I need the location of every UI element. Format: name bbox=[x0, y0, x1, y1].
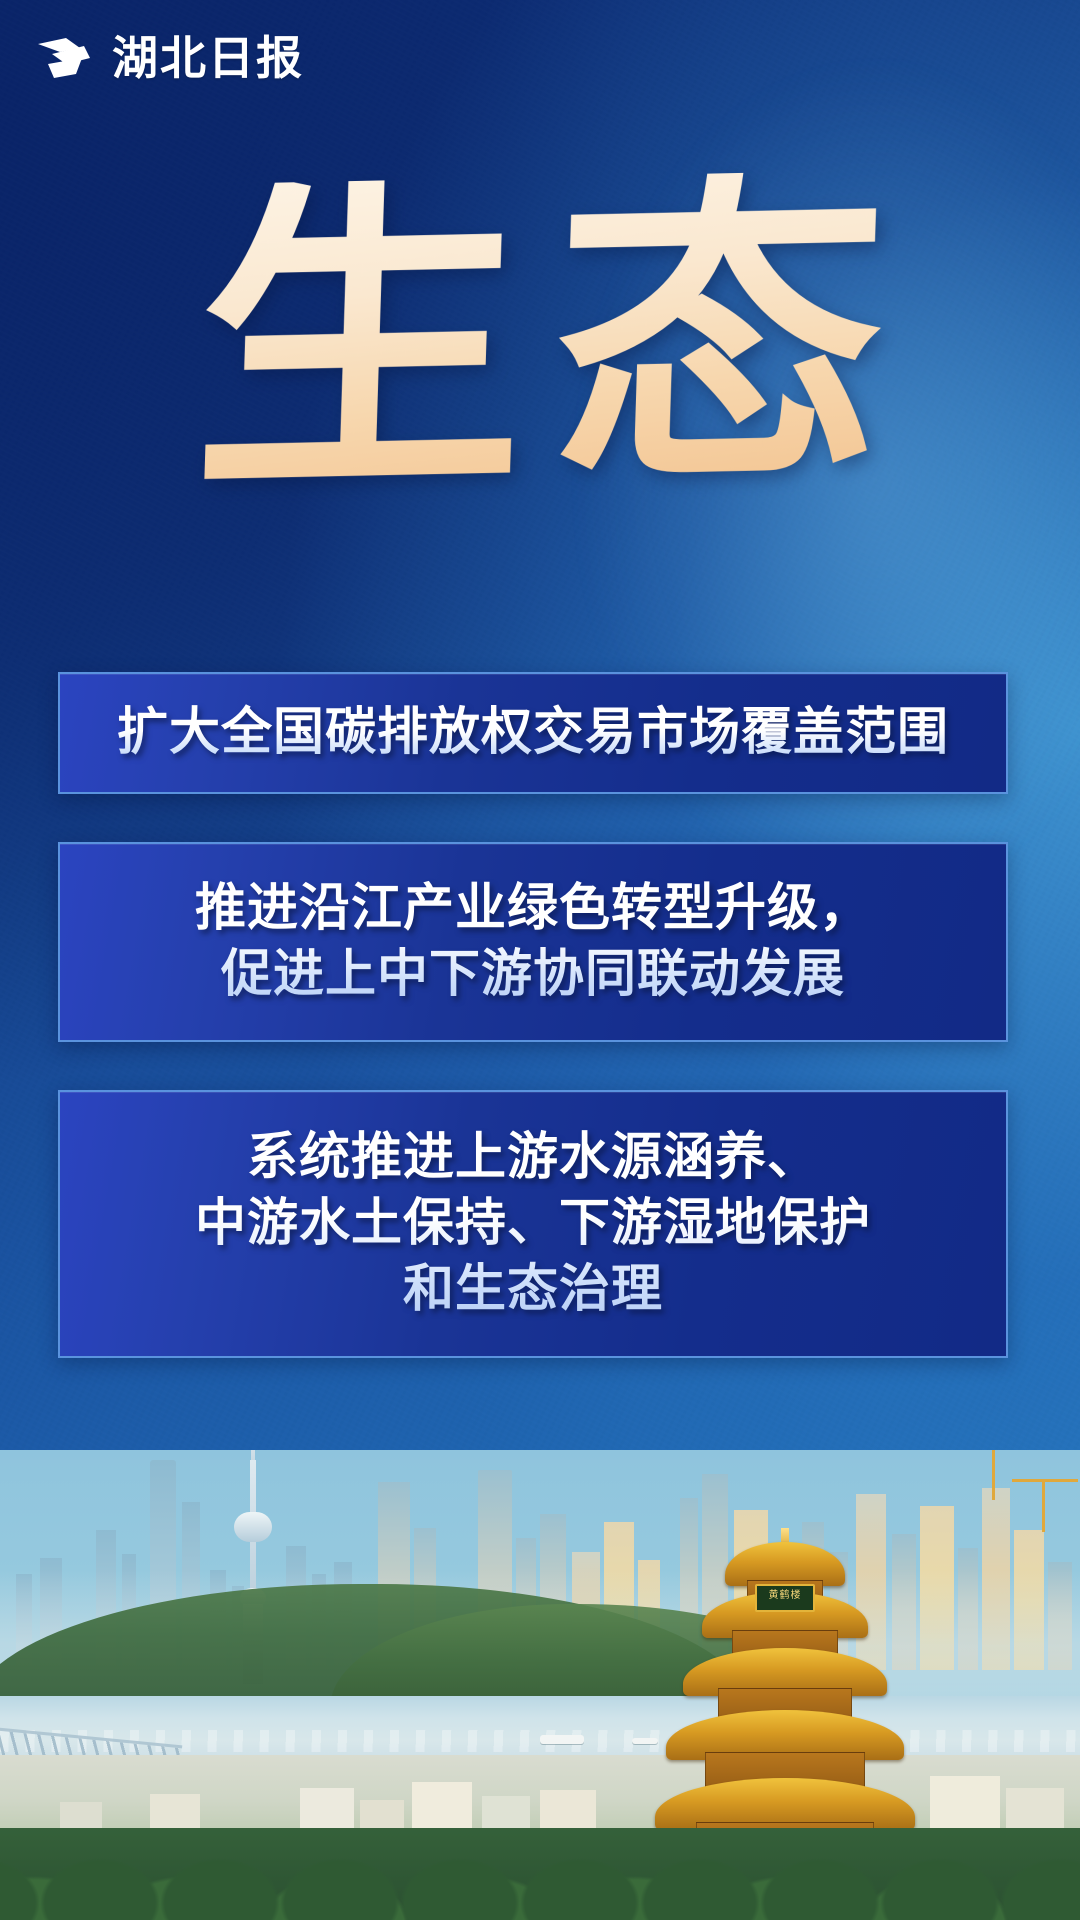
photo-river-boat bbox=[540, 1735, 584, 1744]
yellow-crane-tower: 黄鹤楼 bbox=[655, 1532, 915, 1862]
banner-green-transition-text: 推进沿江产业绿色转型升级， 促进上中下游协同联动发展 bbox=[195, 876, 871, 1009]
banner-carbon-market-text: 扩大全国碳排放权交易市场覆盖范围 bbox=[117, 700, 949, 766]
banner-water-ecology-text: 系统推进上游水源涵养、 中游水土保持、下游湿地保护 和生态治理 bbox=[195, 1125, 871, 1324]
page-title: 生态 bbox=[163, 169, 918, 501]
construction-crane-jib-icon bbox=[1012, 1479, 1078, 1482]
masthead-brand-text: 湖北日报 bbox=[112, 35, 304, 81]
banner-list: 扩大全国碳排放权交易市场覆盖范围 推进沿江产业绿色转型升级， 促进上中下游协同联… bbox=[58, 672, 1008, 1358]
hubei-daily-logomark-icon bbox=[36, 34, 98, 82]
headline-container: 生态 bbox=[0, 140, 1080, 530]
yellow-crane-tower-plaque-text: 黄鹤楼 bbox=[757, 1586, 813, 1606]
wuhan-cityscape-photo: 黄鹤楼 bbox=[0, 1450, 1080, 1920]
banner-water-ecology[interactable]: 系统推进上游水源涵养、 中游水土保持、下游湿地保护 和生态治理 bbox=[58, 1090, 1008, 1358]
photo-foreground-trees bbox=[0, 1828, 1080, 1920]
yellow-crane-tower-plaque: 黄鹤楼 bbox=[755, 1584, 815, 1612]
masthead-logo[interactable]: 湖北日报 bbox=[36, 26, 304, 90]
poster-root: 湖北日报 生态 扩大全国碳排放权交易市场覆盖范围 推进沿江产业绿色转型升级， 促… bbox=[0, 0, 1080, 1920]
construction-crane-icon bbox=[992, 1450, 995, 1500]
banner-green-transition[interactable]: 推进沿江产业绿色转型升级， 促进上中下游协同联动发展 bbox=[58, 842, 1008, 1042]
banner-carbon-market[interactable]: 扩大全国碳排放权交易市场覆盖范围 bbox=[58, 672, 1008, 794]
tv-tower-pod-icon bbox=[234, 1512, 272, 1542]
construction-crane-icon bbox=[1042, 1480, 1045, 1532]
